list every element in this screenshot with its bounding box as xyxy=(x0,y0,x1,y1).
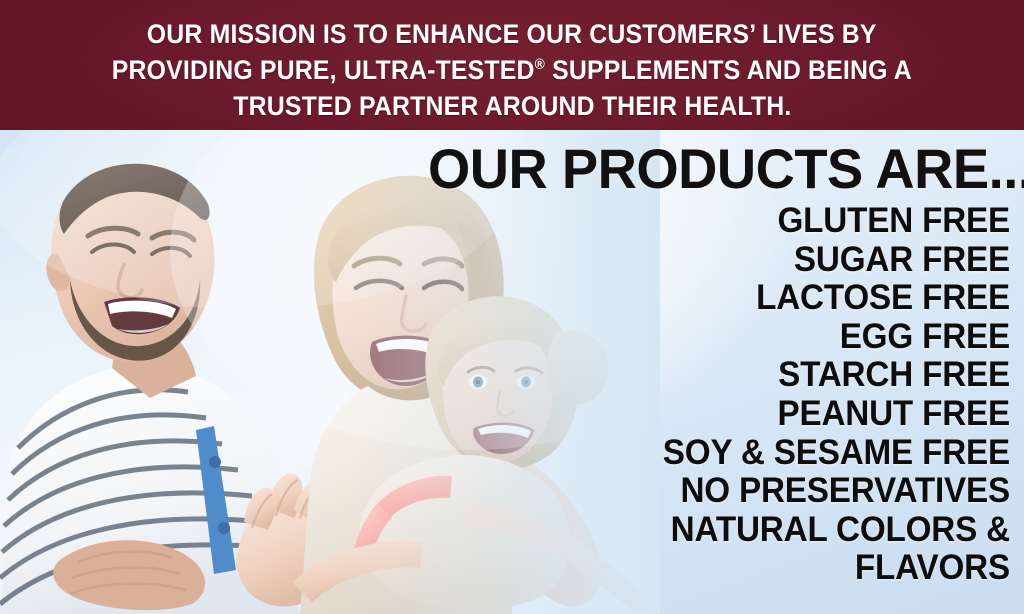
list-item: SOY & SESAME FREE xyxy=(440,434,1010,473)
list-item: STARCH FREE xyxy=(440,356,1010,395)
list-item: GLUTEN FREE xyxy=(440,202,1010,241)
mission-banner: OUR MISSION IS TO ENHANCE OUR CUSTOMERS’… xyxy=(0,0,1024,130)
registered-trademark-icon: ® xyxy=(535,56,545,73)
list-item: NO PRESERVATIVES xyxy=(440,472,1010,511)
mission-line-2: PROVIDING PURE, ULTRA-TESTED® SUPPLEMENT… xyxy=(112,52,912,88)
list-item: NATURAL COLORS & xyxy=(440,511,1010,550)
promo-banner-page: OUR MISSION IS TO ENHANCE OUR CUSTOMERS’… xyxy=(0,0,1024,614)
mission-line-1: OUR MISSION IS TO ENHANCE OUR CUSTOMERS’… xyxy=(147,16,877,52)
list-item: SUGAR FREE xyxy=(440,241,1010,280)
list-item: LACTOSE FREE xyxy=(440,279,1010,318)
list-item: EGG FREE xyxy=(440,318,1010,357)
list-item: PEANUT FREE xyxy=(440,395,1010,434)
mission-line-3: TRUSTED PARTNER AROUND THEIR HEALTH. xyxy=(233,88,791,124)
products-claims-list: GLUTEN FREE SUGAR FREE LACTOSE FREE EGG … xyxy=(410,202,1010,588)
mission-line-2-prefix: PROVIDING PURE, ULTRA-TESTED xyxy=(112,55,535,85)
products-heading: OUR PRODUCTS ARE... xyxy=(428,138,1010,200)
products-section: OUR PRODUCTS ARE... GLUTEN FREE SUGAR FR… xyxy=(410,130,1010,588)
list-item: FLAVORS xyxy=(440,549,1010,588)
mission-line-2-suffix: SUPPLEMENTS AND BEING A xyxy=(545,55,912,85)
